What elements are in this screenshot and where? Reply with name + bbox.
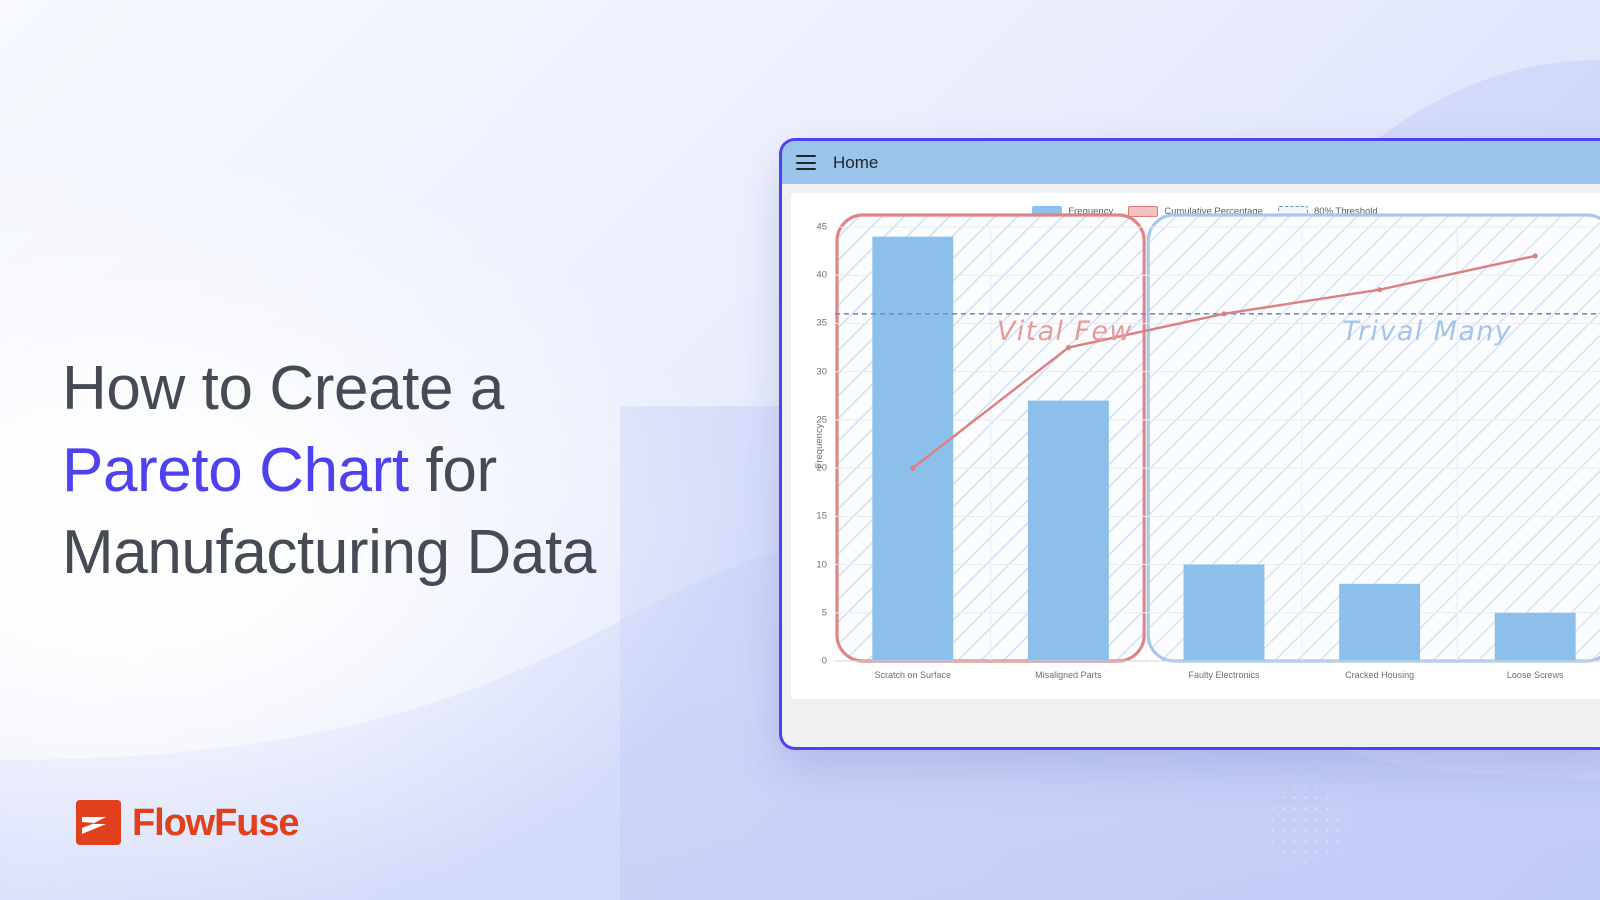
headline-line-3: Manufacturing Data (62, 518, 596, 587)
y-tick-label: 25 (791, 414, 827, 425)
cumulative-point-4[interactable] (1533, 253, 1538, 258)
headline-line-1: How to Create a (62, 354, 504, 423)
hamburger-menu-icon[interactable] (796, 155, 816, 170)
annotation-trivial-many: Trival Many (1342, 316, 1512, 347)
y-tick-label: 30 (791, 366, 827, 377)
headline-line-2-rest: for (409, 436, 497, 505)
dashboard-card: Home Frequency Cumulative Percentage (779, 138, 1600, 750)
bar-3[interactable] (1339, 584, 1420, 661)
headline-accent: Pareto Chart (62, 436, 409, 505)
flowfuse-logo-icon (76, 800, 121, 845)
dot-texture (1245, 770, 1365, 880)
cumulative-point-2[interactable] (1221, 311, 1226, 316)
poster-canvas: How to Create a Pareto Chart for Manufac… (0, 0, 1600, 900)
pareto-chart-panel: Frequency Cumulative Percentage 80% Thre… (791, 193, 1600, 699)
dashboard-body: Frequency Cumulative Percentage 80% Thre… (782, 184, 1600, 747)
y-tick-label: 15 (791, 511, 827, 522)
y-tick-label: 45 (791, 222, 827, 233)
brand-logo: FlowFuse (76, 800, 298, 845)
x-tick-label-4: Loose Screws (1507, 670, 1564, 680)
page-title: How to Create a Pareto Chart for Manufac… (62, 348, 762, 595)
y-tick-label: 40 (791, 270, 827, 281)
y-tick-label: 20 (791, 463, 827, 474)
cumulative-point-0[interactable] (910, 466, 915, 471)
y-tick-label: 10 (791, 559, 827, 570)
x-tick-label-0: Scratch on Surface (875, 670, 952, 680)
dashboard-title: Home (833, 153, 878, 173)
x-tick-label-3: Cracked Housing (1345, 670, 1414, 680)
pareto-chart-svg (791, 193, 1600, 699)
bar-1[interactable] (1028, 401, 1109, 661)
bar-2[interactable] (1184, 565, 1265, 661)
cumulative-point-3[interactable] (1377, 287, 1382, 292)
x-tick-label-1: Misaligned Parts (1035, 670, 1102, 680)
y-tick-label: 35 (791, 318, 827, 329)
y-tick-label: 5 (791, 607, 827, 618)
bar-0[interactable] (872, 237, 953, 661)
bar-4[interactable] (1495, 613, 1576, 661)
brand-name: FlowFuse (132, 804, 298, 842)
plot-area: 051015202530354045Scratch on SurfaceMisa… (791, 193, 1600, 699)
dashboard-topbar: Home (782, 141, 1600, 184)
annotation-vital-few: Vital Few (997, 316, 1133, 347)
x-tick-label-2: Faulty Electronics (1188, 670, 1259, 680)
y-tick-label: 0 (791, 656, 827, 667)
